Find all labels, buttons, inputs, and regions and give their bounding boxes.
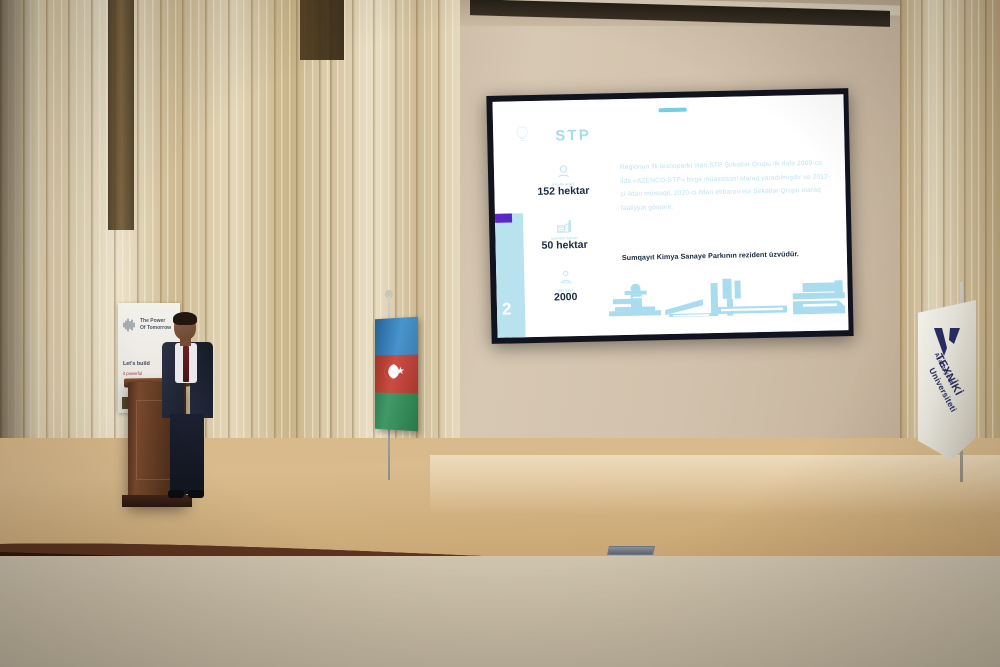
hair (173, 312, 197, 325)
slide-highlight-line: Sumqayıt Kimya Sanaye Parkının rezident … (622, 249, 837, 262)
slide-stat-value: 2000 (525, 291, 607, 304)
slide-accent-bar (495, 213, 512, 222)
slide-stat-value: 152 hektar (522, 186, 604, 199)
curtain-gap-shadow-upper (300, 0, 344, 60)
bulb-icon (515, 125, 529, 145)
projection-screen: 2 STP ümumi ərazi 152 hektar (486, 88, 853, 344)
slide-stat-value: 50 hektar (524, 239, 606, 252)
slide-top-divider (659, 108, 687, 113)
shoe-left (168, 490, 184, 498)
slide-title: STP (555, 127, 591, 145)
flag-fold-shading (375, 317, 418, 432)
necktie (183, 346, 189, 382)
auditorium-carpet (0, 556, 1000, 667)
shoe-right (188, 490, 204, 498)
slide-body-paragraph: Regionun ilk texnoparkı olan STP Şirkətl… (620, 156, 833, 215)
banner-tagline: Let's build (123, 361, 150, 367)
curtain-edge-shadow (0, 0, 40, 500)
trousers (170, 414, 204, 494)
slide-stat-area: ümumi ərazi 152 hektar (522, 161, 605, 198)
people-icon (524, 267, 606, 289)
slide-stat-production: istehsal sahəsi 50 hektar (523, 215, 606, 252)
speaker-person (160, 314, 218, 504)
factory-icon (523, 215, 605, 237)
conference-hall-photo: 2 STP ümumi ərazi 152 hektar (0, 0, 1000, 667)
area-pin-icon (522, 161, 604, 183)
presentation-slide: 2 STP ümumi ərazi 152 hektar (492, 94, 848, 338)
slide-stat-employees: işçi sayı 2000 (524, 267, 607, 304)
industrial-skyline-illustration (606, 272, 847, 325)
soundwave-logo-icon (123, 318, 137, 332)
azerbaijan-flag: ★ (375, 317, 418, 432)
university-flag: Azərbaycan TEXNİKİ Universiteti (918, 300, 976, 460)
slide-page-number: 2 (502, 299, 512, 319)
banner-subtagline: it powerful (123, 371, 142, 376)
curtain-gap-shadow (108, 0, 134, 230)
